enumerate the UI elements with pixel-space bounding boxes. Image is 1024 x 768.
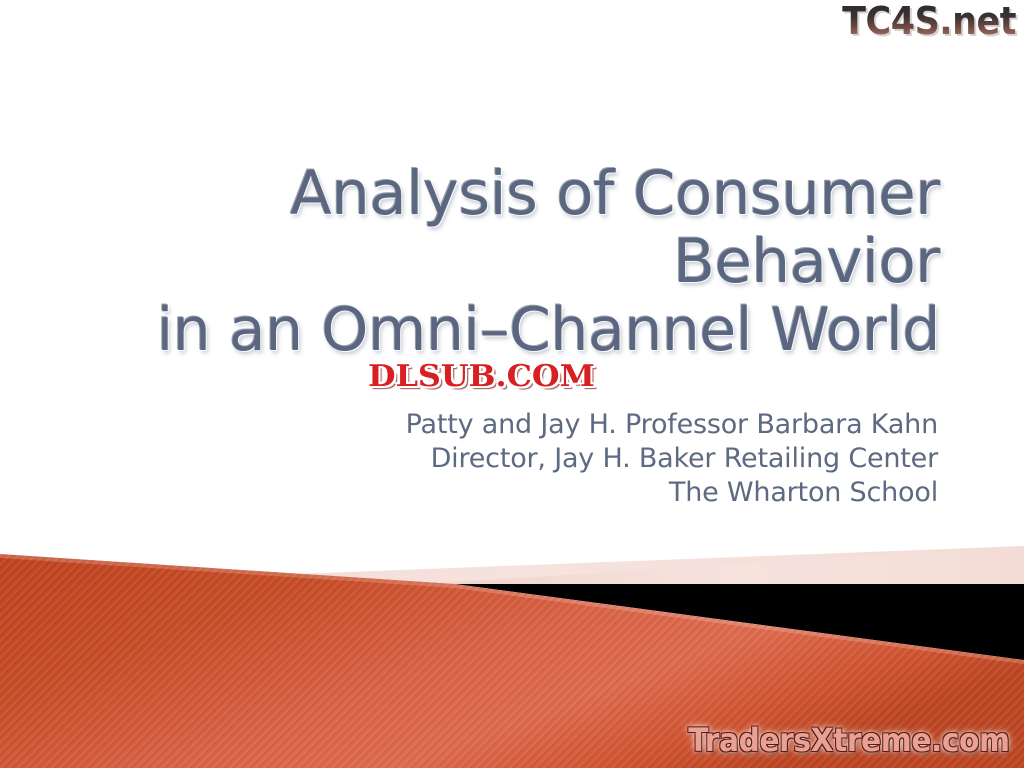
tc4s-watermark: TC4S.net (842, 2, 1016, 40)
slide-subtitle: Patty and Jay H. Professor Barbara Kahn … (60, 408, 938, 510)
slide-title: Analysis of Consumer Behavior in an Omni… (60, 160, 940, 364)
title-line-2: Behavior (60, 228, 940, 296)
subtitle-line-2: Director, Jay H. Baker Retailing Center (60, 442, 938, 476)
subtitle-line-1: Patty and Jay H. Professor Barbara Kahn (60, 408, 938, 442)
presentation-slide: TC4S.net TC4S.net Analysis of Consumer B… (0, 0, 1024, 768)
dlsub-watermark: DLSUB.COM (368, 362, 595, 392)
subtitle-line-3: The Wharton School (60, 476, 938, 510)
title-line-1: Analysis of Consumer (60, 160, 940, 228)
title-line-3: in an Omni–Channel World (60, 296, 940, 364)
tradersxtreme-watermark: TradersXtreme.com (689, 724, 1010, 756)
